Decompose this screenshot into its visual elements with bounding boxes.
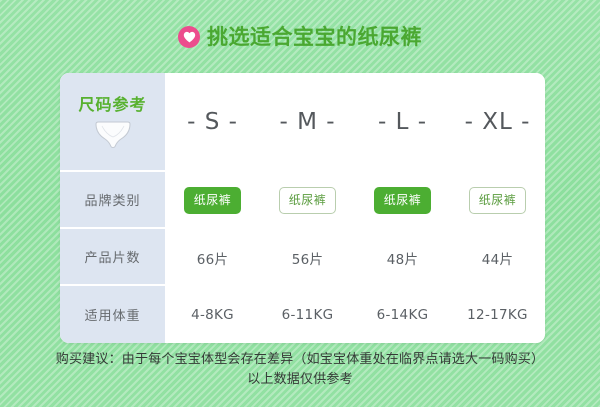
piece-count-value-s: 66片 bbox=[197, 248, 229, 268]
purchase-advice-line-1: 购买建议：由于每个宝宝体型会存在差异（如宝宝体重处在临界点请选大一码购买） bbox=[0, 350, 600, 370]
piece-count-value-m: 56片 bbox=[292, 248, 324, 268]
row-label-weight-range: 适用体重 bbox=[60, 286, 165, 343]
purchase-advice-line-2: 以上数据仅供参考 bbox=[0, 370, 600, 390]
size-header-row: - S - - M - - L - - XL - bbox=[165, 73, 545, 172]
brand-type-cell-s: 纸尿裤 bbox=[165, 187, 260, 214]
brand-type-cell-l: 纸尿裤 bbox=[355, 187, 450, 214]
heart-icon bbox=[178, 26, 200, 48]
weight-range-value-l: 6-14KG bbox=[377, 307, 429, 323]
piece-count-value-xl: 44片 bbox=[482, 248, 514, 268]
table-row-brand-type: 纸尿裤 纸尿裤 纸尿裤 纸尿裤 bbox=[165, 172, 545, 229]
piece-count-cell-m: 56片 bbox=[260, 248, 355, 268]
data-area: - S - - M - - L - - XL - 纸尿裤 纸尿裤 纸尿裤 bbox=[165, 73, 545, 343]
size-label-l: - L - bbox=[378, 111, 427, 134]
weight-range-value-xl: 12-17KG bbox=[467, 307, 528, 323]
badge-brand-type-m: 纸尿裤 bbox=[279, 187, 337, 214]
size-header-cell-l: - L - bbox=[355, 111, 450, 134]
size-label-s: - S - bbox=[187, 111, 238, 134]
size-header-cell-m: - M - bbox=[260, 111, 355, 134]
weight-range-cell-xl: 12-17KG bbox=[450, 307, 545, 323]
size-label-m: - M - bbox=[279, 111, 335, 134]
badge-brand-type-l: 纸尿裤 bbox=[374, 187, 432, 214]
weight-range-cell-m: 6-11KG bbox=[260, 307, 355, 323]
table-row-weight-range: 4-8KG 6-11KG 6-14KG 12-17KG bbox=[165, 286, 545, 343]
size-header-cell-xl: - XL - bbox=[450, 111, 545, 134]
purchase-advice-note: 购买建议：由于每个宝宝体型会存在差异（如宝宝体重处在临界点请选大一码购买） 以上… bbox=[0, 350, 600, 390]
page-title-text: 挑选适合宝宝的纸尿裤 bbox=[207, 27, 422, 48]
badge-brand-type-xl: 纸尿裤 bbox=[469, 187, 527, 214]
size-label-xl: - XL - bbox=[465, 111, 531, 134]
page-title: 挑选适合宝宝的纸尿裤 bbox=[0, 18, 600, 56]
piece-count-cell-l: 48片 bbox=[355, 248, 450, 268]
size-reference-panel: 尺码参考 品牌类别 产品片数 适用体重 - S - - M - - L - bbox=[60, 73, 545, 343]
size-header-cell-s: - S - bbox=[165, 111, 260, 134]
size-reference-label: 尺码参考 bbox=[78, 96, 146, 114]
label-column: 尺码参考 品牌类别 产品片数 适用体重 bbox=[60, 73, 165, 343]
table-row-piece-count: 66片 56片 48片 44片 bbox=[165, 229, 545, 286]
piece-count-cell-xl: 44片 bbox=[450, 248, 545, 268]
diaper-icon bbox=[92, 119, 134, 153]
row-label-piece-count: 产品片数 bbox=[60, 229, 165, 284]
size-reference-header-cell: 尺码参考 bbox=[60, 73, 165, 170]
weight-range-value-s: 4-8KG bbox=[191, 307, 234, 323]
weight-range-cell-l: 6-14KG bbox=[355, 307, 450, 323]
brand-type-cell-xl: 纸尿裤 bbox=[450, 187, 545, 214]
row-label-brand-type: 品牌类别 bbox=[60, 172, 165, 227]
piece-count-value-l: 48片 bbox=[387, 248, 419, 268]
weight-range-value-m: 6-11KG bbox=[282, 307, 334, 323]
piece-count-cell-s: 66片 bbox=[165, 248, 260, 268]
badge-brand-type-s: 纸尿裤 bbox=[184, 187, 242, 214]
weight-range-cell-s: 4-8KG bbox=[165, 307, 260, 323]
brand-type-cell-m: 纸尿裤 bbox=[260, 187, 355, 214]
